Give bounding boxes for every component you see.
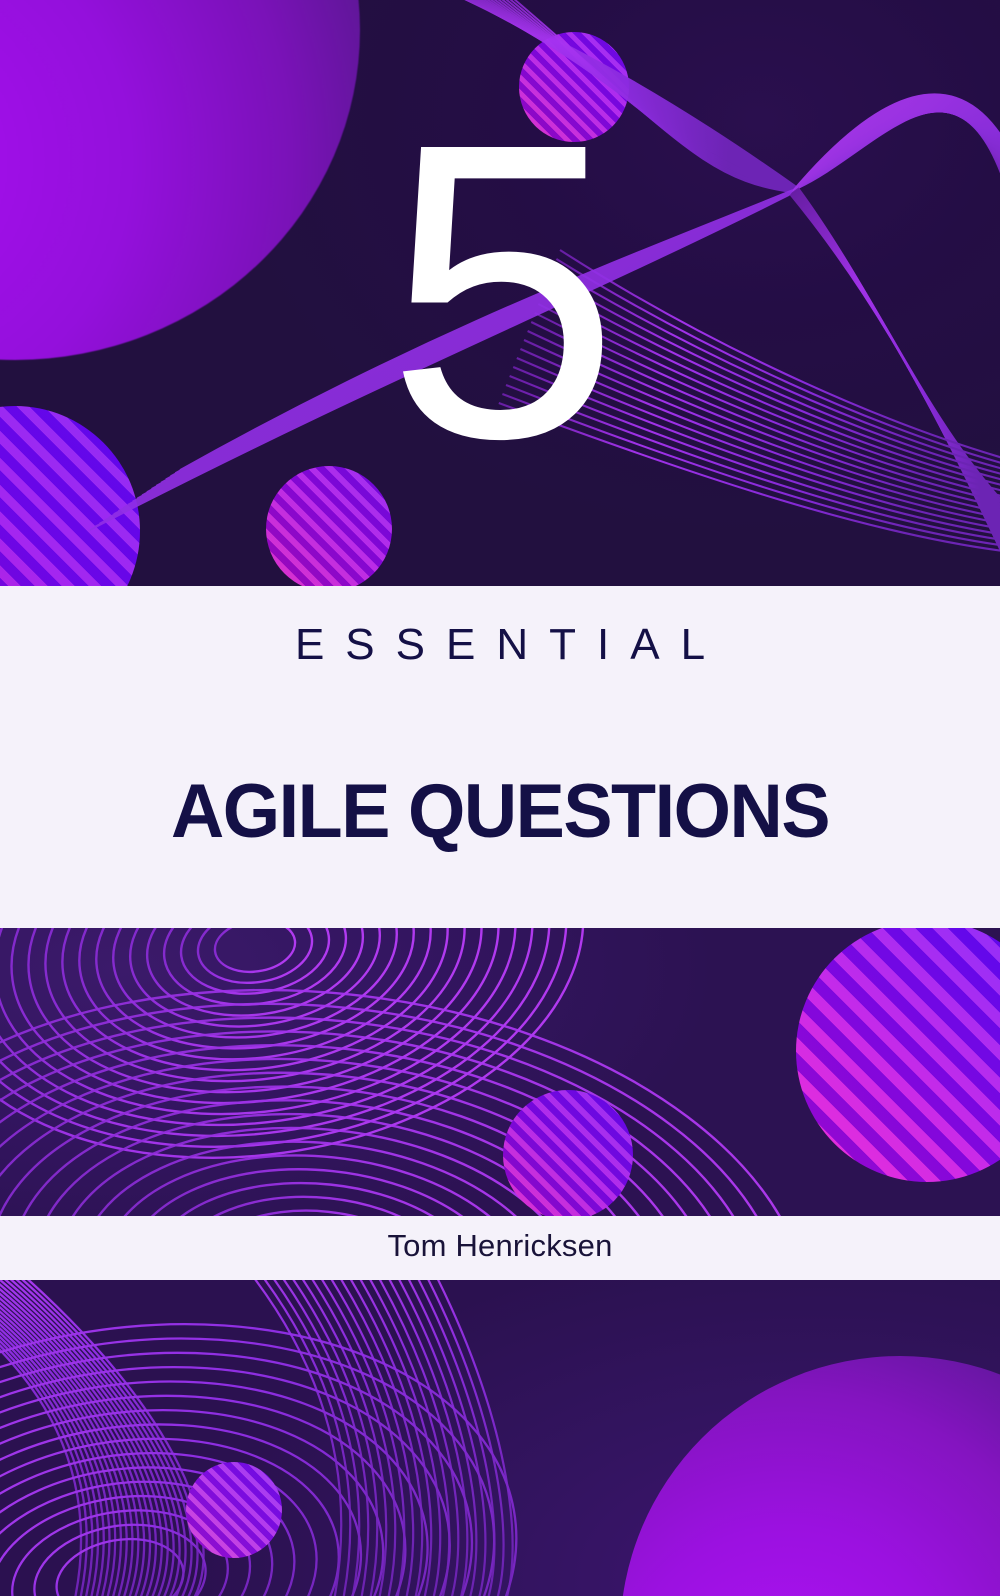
cover-eyebrow-text: ESSENTIAL <box>0 620 1000 670</box>
cover-numeral: 5 <box>0 92 1000 492</box>
wave-lines-bottom-left <box>0 1280 1000 1596</box>
cover-author-name: Tom Henricksen <box>0 1228 1000 1264</box>
striped-circle-bottom-small <box>186 1462 282 1558</box>
middle-artwork-panel <box>0 928 1000 1216</box>
striped-circle-mid-small <box>503 1090 633 1216</box>
book-cover: 5 ESSENTIAL AGILE QUESTIONS Tom Henricks… <box>0 0 1000 1596</box>
cover-title: AGILE QUESTIONS <box>15 768 985 855</box>
bottom-artwork-panel <box>0 1280 1000 1596</box>
